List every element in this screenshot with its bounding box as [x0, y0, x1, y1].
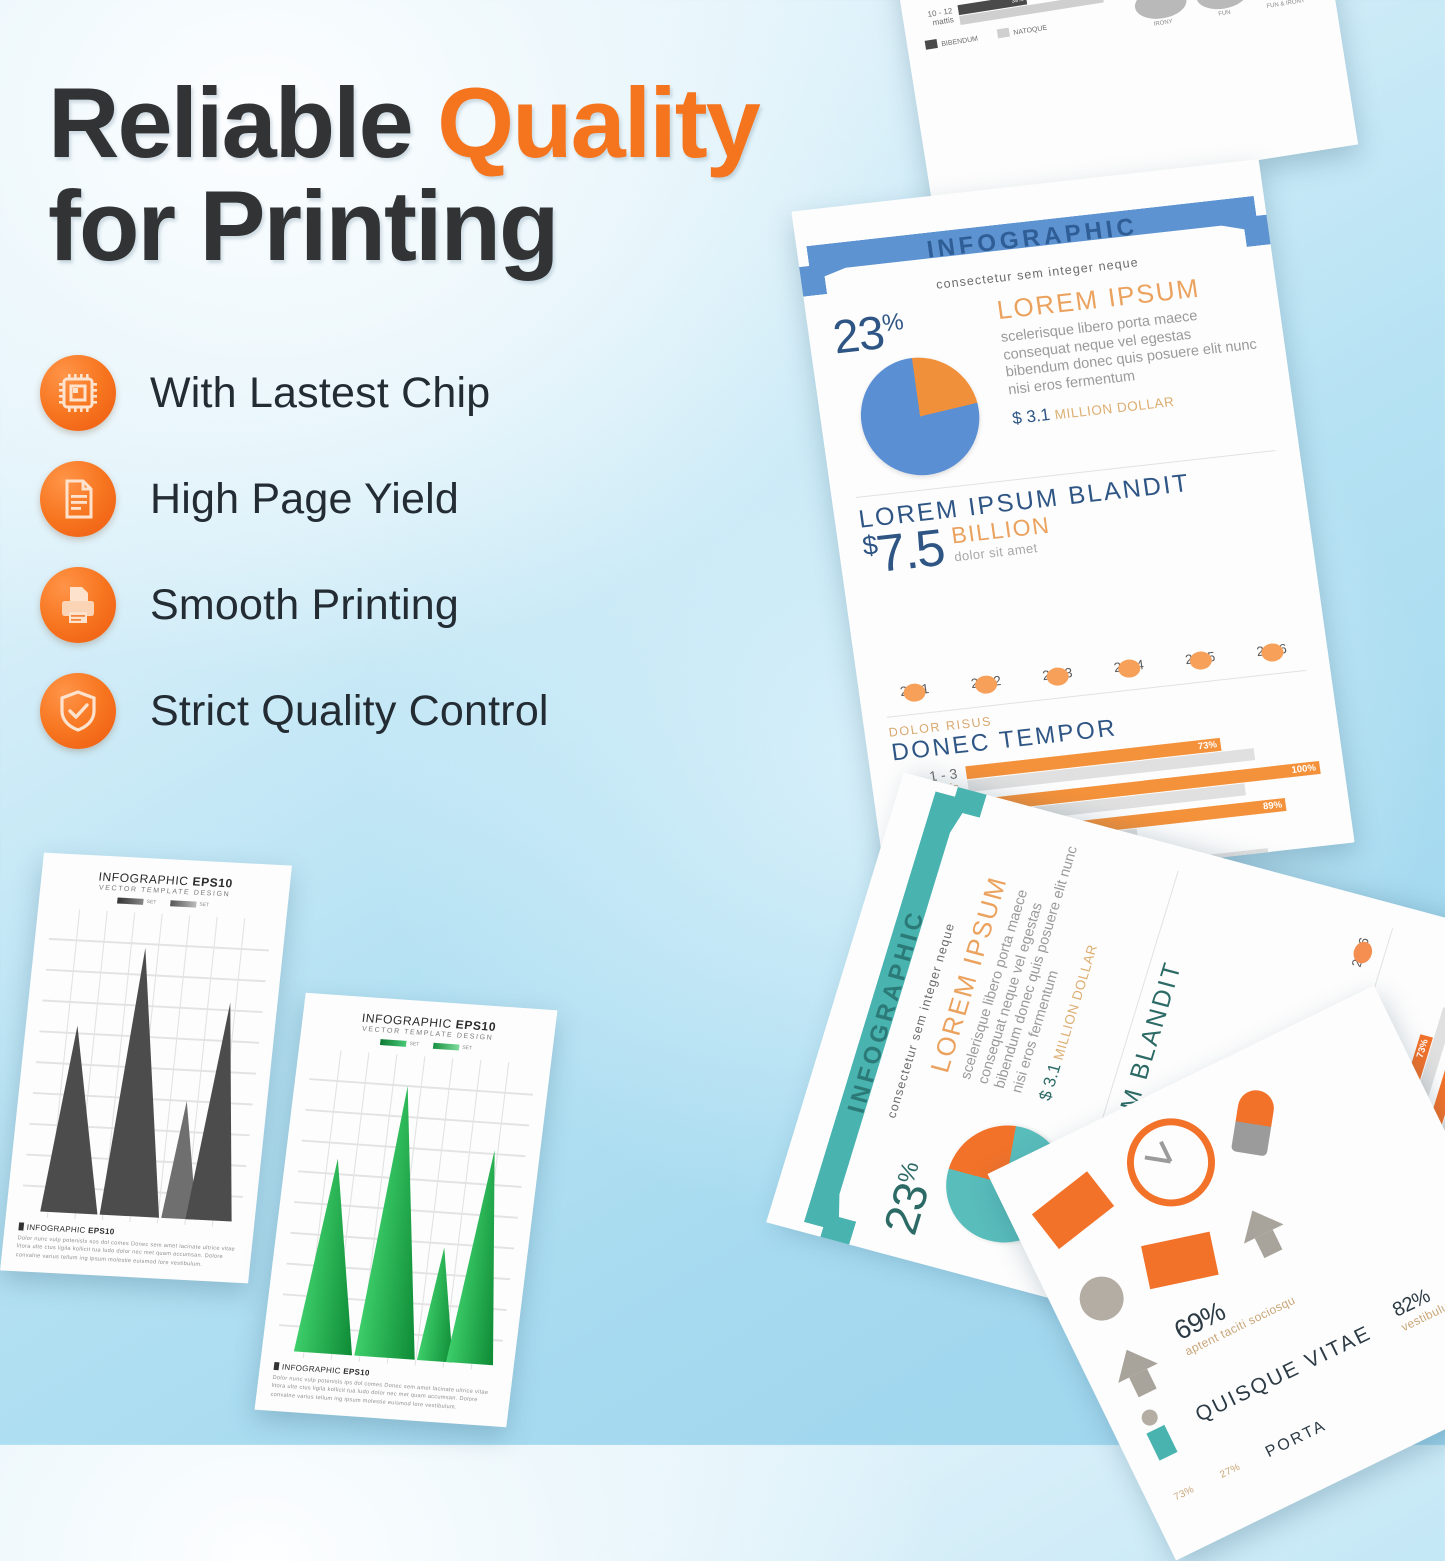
grey-pill-label: IRONY	[1137, 16, 1189, 30]
pct-right-label: 27%	[1218, 1462, 1242, 1481]
ribbon-title: INFOGRAPHIC	[925, 213, 1140, 264]
infographic-sheet-main: INFOGRAPHIC consectetur sem integer nequ…	[791, 159, 1354, 895]
spike-foot-bold: EPS10	[88, 1226, 115, 1236]
lightbulb-icon	[1231, 1088, 1277, 1157]
clock-icon	[1112, 1104, 1230, 1222]
arrow-up-icon	[1107, 1341, 1158, 1384]
big-value: 7.5	[873, 519, 947, 584]
year-bar: 2014	[1096, 651, 1161, 678]
dollar-unit: MILLION DOLLAR	[1054, 394, 1176, 422]
grey-pill-label: FUN	[1198, 7, 1250, 21]
pct-left-label: 73%	[1172, 1484, 1196, 1503]
stat-percent-value: 23	[873, 1178, 939, 1240]
feature-label: Strict Quality Control	[150, 687, 549, 736]
person-icon	[1134, 1404, 1183, 1468]
feature-label: High Page Yield	[150, 475, 459, 524]
year-bar: 2015	[1167, 643, 1232, 670]
feature-item-smooth-printing: Smooth Printing	[40, 552, 680, 658]
year-bar: 2013	[1024, 659, 1089, 686]
feature-item-chip: With Lastest Chip	[40, 340, 680, 446]
spike-foot-light: INFOGRAPHIC	[281, 1362, 343, 1375]
page-title: Reliable Quality for Printing	[48, 74, 888, 274]
gear-icon	[1072, 1269, 1131, 1328]
dollar-value: $ 3.1	[1011, 405, 1051, 428]
feature-item-page-yield: High Page Yield	[40, 446, 680, 552]
printer-icon	[40, 567, 116, 643]
spiked-area-chart	[275, 1048, 537, 1371]
grey-pill-row: IRONY FUN FUN & IRONY	[1123, 0, 1322, 32]
envelope-icon	[1141, 1232, 1219, 1290]
feature-list: With Lastest Chip High Page Yield	[40, 340, 680, 764]
spike-title-bold: EPS10	[192, 874, 234, 890]
year-bar: 2012	[953, 667, 1018, 694]
chart-sheet-green: INFOGRAPHIC EPS10 VECTOR TEMPLATE DESIGN…	[255, 993, 558, 1427]
grey-legend-primary: BIBENDUM	[941, 36, 979, 49]
feature-label: Smooth Printing	[150, 581, 459, 630]
envelope-icon	[1032, 1171, 1114, 1249]
grey-pill-label: FUN & IRONY	[1260, 0, 1312, 11]
spiked-area-chart	[20, 908, 272, 1228]
year-bar: 2011	[882, 675, 947, 702]
grey-row-sub: mattis	[928, 0, 950, 1]
spike-foot-bold: EPS10	[343, 1367, 370, 1378]
spike-foot-light: INFOGRAPHIC	[26, 1223, 88, 1235]
promo-banner: Reliable Quality for Printing	[0, 0, 1445, 1445]
spike-foot-body: Dolor nunc vulp potenisls ips dol comes …	[270, 1374, 497, 1415]
feature-item-quality-control: Strict Quality Control	[40, 658, 680, 764]
stat-percent-symbol: %	[880, 308, 905, 337]
headline-line1-plain: Reliable	[48, 67, 437, 178]
porta-heading: PORTA	[1263, 1417, 1330, 1462]
feature-label: With Lastest Chip	[150, 369, 490, 418]
grey-row-sub: mattis	[932, 15, 954, 27]
headline-line2: for Printing	[48, 177, 888, 274]
chart-sheet-greyscale: INFOGRAPHIC EPS10 VECTOR TEMPLATE DESIGN…	[0, 853, 292, 1284]
dollar-value: $ 3.1	[1035, 1061, 1064, 1102]
spike-foot-body: Dolor nunc vulp potenisls sos dol comes …	[15, 1234, 238, 1271]
document-icon	[40, 461, 116, 537]
year-bar: 2016	[1239, 635, 1304, 662]
headline-line1-accent: Quality	[437, 67, 759, 178]
spike-title-bold: EPS10	[455, 1017, 497, 1034]
chip-icon	[40, 355, 116, 431]
grey-legend-secondary: NATOQUE	[1013, 25, 1048, 37]
shield-check-icon	[40, 673, 116, 749]
stat-percent-value: 23	[830, 305, 887, 363]
year-bar: 2016	[1339, 919, 1377, 984]
pie-chart	[853, 351, 987, 481]
arrow-up-icon	[1233, 1201, 1284, 1244]
